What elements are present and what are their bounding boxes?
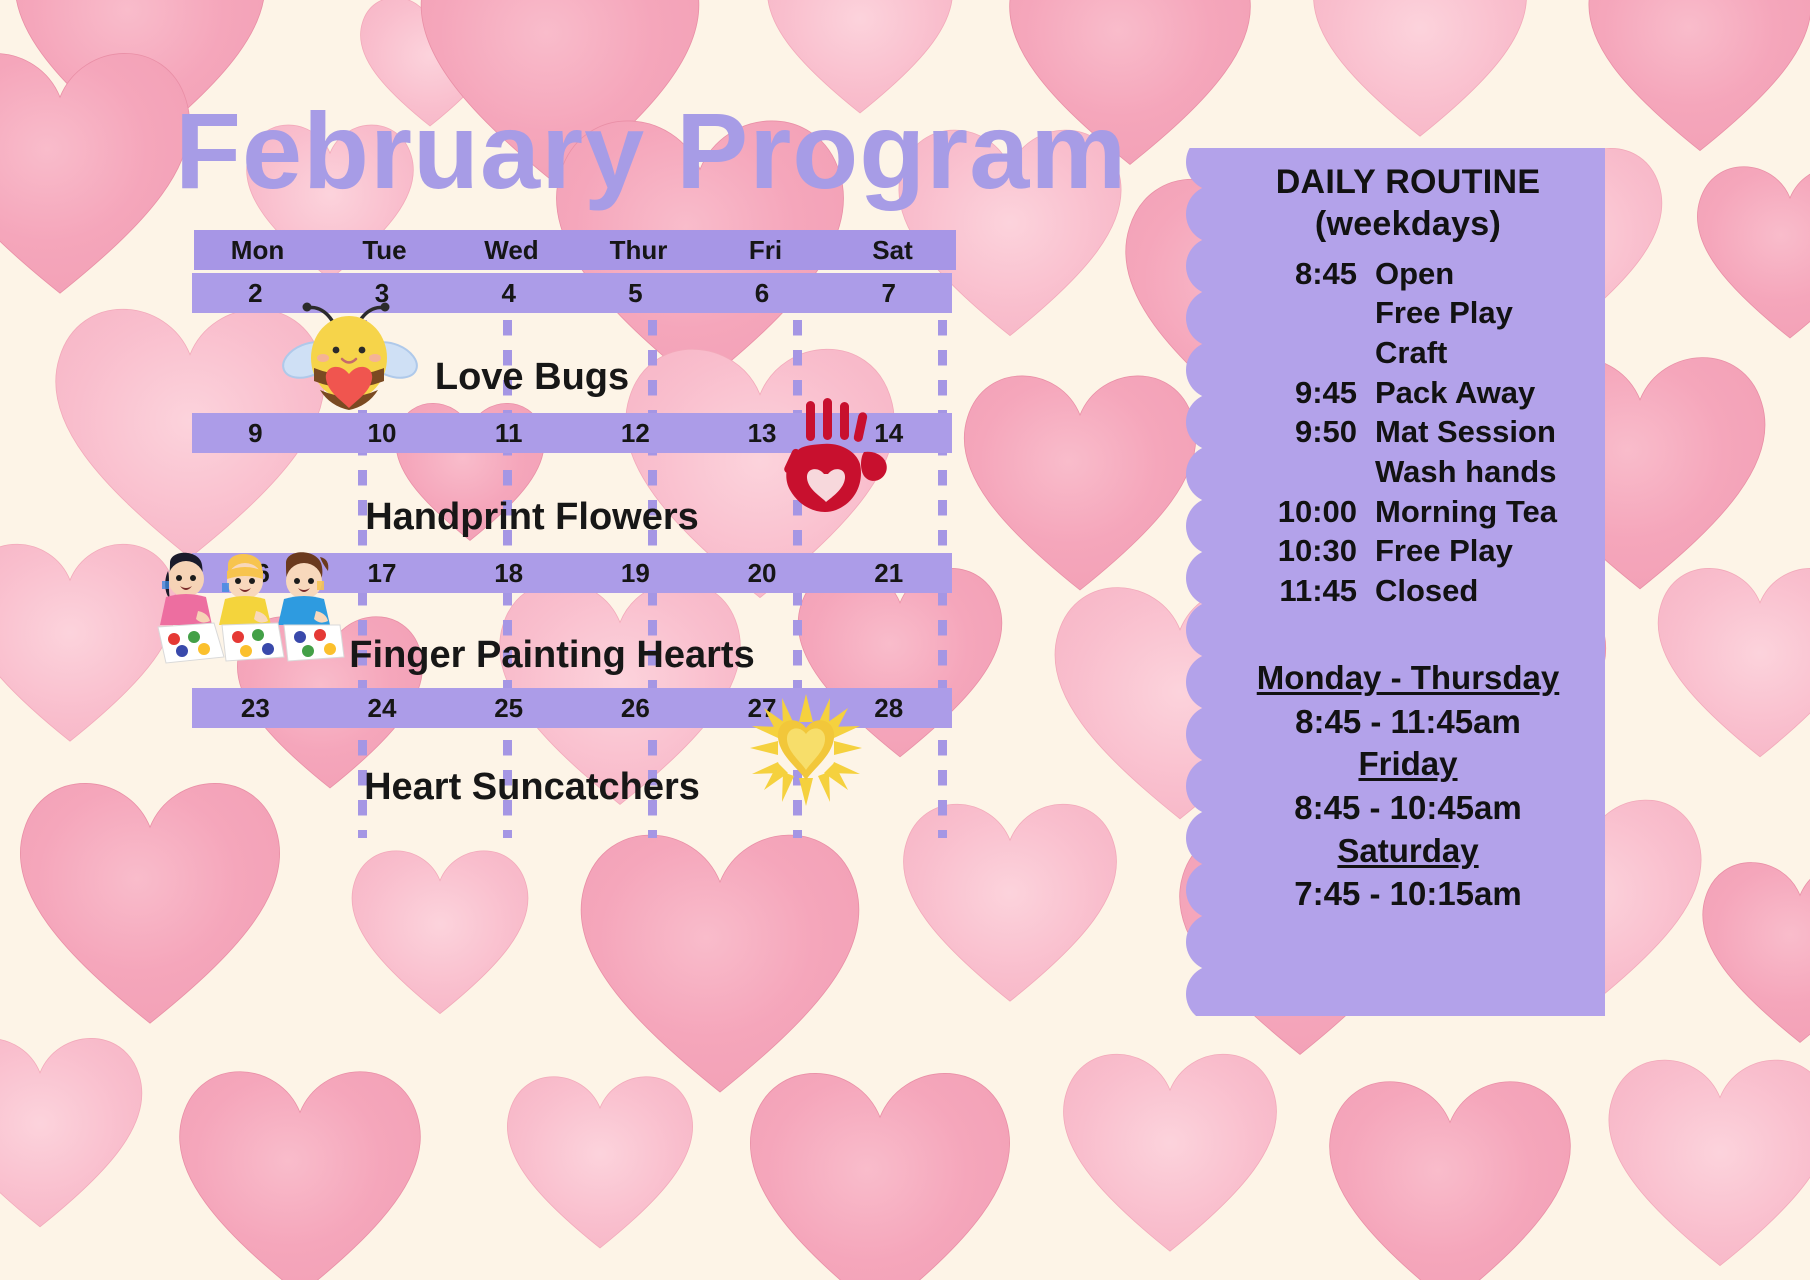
- hours-time: 7:45 - 10:15am: [1213, 872, 1603, 916]
- date-cell: 7: [825, 280, 952, 306]
- routine-label: Morning Tea: [1375, 492, 1603, 532]
- routine-label: Closed: [1375, 571, 1603, 611]
- bee-icon: [278, 302, 428, 412]
- routine-label: Wash hands: [1375, 452, 1603, 492]
- routine-time: 11:45: [1237, 571, 1375, 611]
- routine-time: 10:30: [1237, 531, 1375, 571]
- date-cell: 24: [319, 695, 446, 721]
- sun-icon: [742, 690, 872, 810]
- date-cell: 21: [825, 560, 952, 586]
- routine-label: Free Play: [1375, 531, 1603, 571]
- day-header: Thur: [575, 237, 702, 263]
- date-cell: 11: [445, 420, 572, 446]
- children-painting-icon: [152, 545, 362, 670]
- day-header: Fri: [702, 237, 829, 263]
- hours-time: 8:45 - 10:45am: [1213, 786, 1603, 830]
- routine-item: Craft: [1237, 333, 1603, 373]
- day-header: Tue: [321, 237, 448, 263]
- routine-label: Craft: [1375, 333, 1603, 373]
- routine-time: 9:50: [1237, 412, 1375, 452]
- routine-item: 9:50 Mat Session: [1237, 412, 1603, 452]
- routine-item: Free Play: [1237, 293, 1603, 333]
- week-activity-label: Love Bugs: [152, 358, 912, 396]
- handprint-icon: [768, 398, 898, 533]
- day-header: Mon: [194, 237, 321, 263]
- date-cell: 5: [572, 280, 699, 306]
- day-header: Wed: [448, 237, 575, 263]
- hours-days: Friday: [1213, 743, 1603, 786]
- date-cell: 9: [192, 420, 319, 446]
- routine-label: Free Play: [1375, 293, 1603, 333]
- calendar-header-row: Mon Tue Wed Thur Fri Sat: [194, 230, 956, 270]
- routine-item: 8:45 Open: [1237, 254, 1603, 294]
- routine-time: 8:45: [1237, 254, 1375, 294]
- routine-label: Pack Away: [1375, 373, 1603, 413]
- routine-time: 9:45: [1237, 373, 1375, 413]
- routine-item: 9:45 Pack Away: [1237, 373, 1603, 413]
- date-cell: 10: [319, 420, 446, 446]
- routine-item: 10:00 Morning Tea: [1237, 492, 1603, 532]
- date-cell: 23: [192, 695, 319, 721]
- routine-item: 11:45 Closed: [1237, 571, 1603, 611]
- hours-days: Monday - Thursday: [1213, 657, 1603, 700]
- routine-item: Wash hands: [1237, 452, 1603, 492]
- date-cell: 12: [572, 420, 699, 446]
- daily-routine-panel: DAILY ROUTINE (weekdays) 8:45 Open Free …: [1185, 148, 1625, 1016]
- date-cell: 18: [445, 560, 572, 586]
- routine-title: DAILY ROUTINE: [1213, 162, 1603, 204]
- date-cell: 20: [699, 560, 826, 586]
- routine-item: 10:30 Free Play: [1237, 531, 1603, 571]
- hours-time: 8:45 - 11:45am: [1213, 700, 1603, 744]
- date-cell: 26: [572, 695, 699, 721]
- routine-label: Mat Session: [1375, 412, 1603, 452]
- hours-days: Saturday: [1213, 830, 1603, 873]
- routine-item-list: 8:45 Open Free Play Craft 9:45 Pack Away…: [1237, 254, 1603, 611]
- page-title: February Program: [175, 88, 1127, 213]
- date-cell: 6: [699, 280, 826, 306]
- opening-hours-block: Monday - Thursday 8:45 - 11:45am Friday …: [1213, 657, 1603, 916]
- date-cell: 25: [445, 695, 572, 721]
- date-cell: 19: [572, 560, 699, 586]
- routine-label: Open: [1375, 254, 1603, 294]
- date-cell: 4: [445, 280, 572, 306]
- routine-subtitle: (weekdays): [1213, 204, 1603, 246]
- day-header: Sat: [829, 237, 956, 263]
- routine-time: 10:00: [1237, 492, 1375, 532]
